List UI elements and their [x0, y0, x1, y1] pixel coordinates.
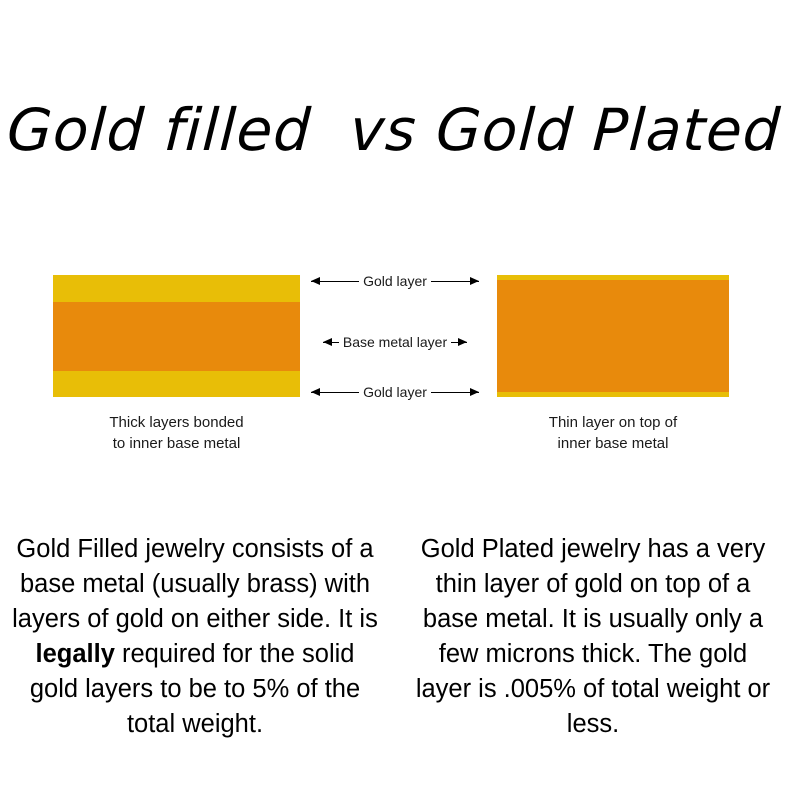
arrow-left-icon	[311, 276, 359, 287]
gold-plated-bottom-gold-layer	[497, 392, 729, 397]
comparison-diagram: Gold layer Base metal layer Gold layer T…	[0, 260, 788, 470]
annotation-gold-layer-bottom: Gold layer	[305, 382, 485, 402]
gold-filled-base-metal-layer	[53, 302, 300, 371]
gold-plated-caption: Thin layer on top of inner base metal	[497, 412, 729, 454]
gold-filled-top-gold-layer	[53, 275, 300, 302]
annotation-base-metal-layer: Base metal layer	[305, 332, 485, 352]
caption-line-1: Thick layers bonded	[53, 412, 300, 433]
caption-line-1: Thin layer on top of	[497, 412, 729, 433]
gold-filled-caption: Thick layers bonded to inner base metal	[53, 412, 300, 454]
gold-filled-bottom-gold-layer	[53, 371, 300, 397]
description-columns: Gold Filled jewelry consists of a base m…	[0, 532, 788, 742]
gold-filled-description: Gold Filled jewelry consists of a base m…	[0, 532, 394, 742]
gold-plated-base-metal-layer	[497, 280, 729, 392]
arrow-left-icon	[311, 387, 359, 398]
page-title: Gold filled vs Gold Plated	[0, 96, 788, 164]
description-emphasis: legally	[36, 640, 115, 668]
gold-filled-cross-section	[53, 275, 300, 397]
annotation-gold-layer-top: Gold layer	[305, 271, 485, 291]
caption-line-2: inner base metal	[497, 433, 729, 454]
gold-plated-description: Gold Plated jewelry has a very thin laye…	[394, 532, 788, 742]
arrow-left-icon	[323, 337, 339, 348]
arrow-right-icon	[431, 276, 479, 287]
arrow-right-icon	[451, 337, 467, 348]
caption-line-2: to inner base metal	[53, 433, 300, 454]
annotation-label: Gold layer	[359, 384, 431, 400]
annotation-label: Gold layer	[359, 273, 431, 289]
arrow-right-icon	[431, 387, 479, 398]
description-part-1: Gold Filled jewelry consists of a base m…	[12, 535, 378, 633]
annotation-label: Base metal layer	[339, 334, 451, 350]
gold-plated-cross-section	[497, 275, 729, 397]
description-part-1: Gold Plated jewelry has a very thin laye…	[416, 535, 770, 738]
